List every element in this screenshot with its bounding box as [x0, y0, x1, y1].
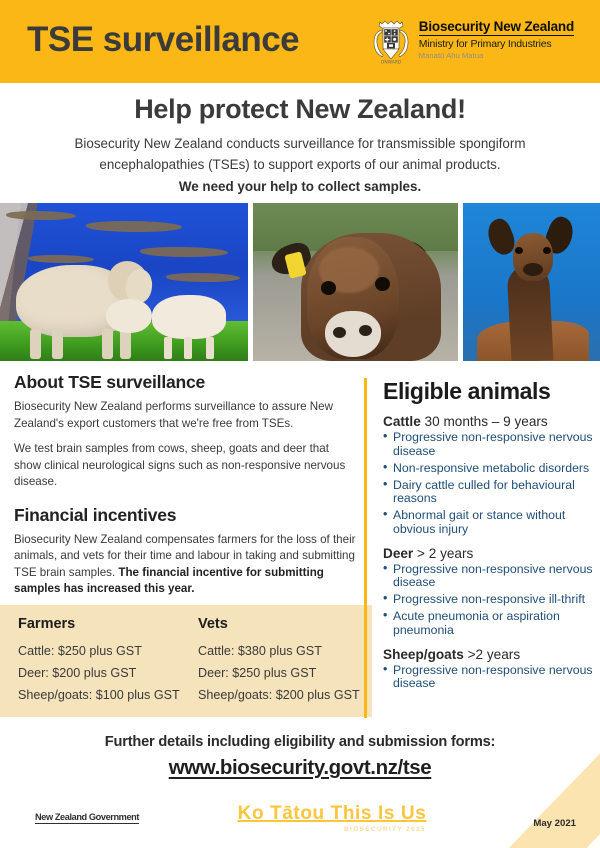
- about-paragraph-1: Biosecurity New Zealand performs surveil…: [14, 399, 359, 432]
- animal-name-deer: Deer: [383, 546, 413, 561]
- cow-eye: [321, 281, 336, 295]
- cow-photo: [253, 203, 458, 361]
- lamb-leg: [206, 337, 214, 359]
- photo-strip: [0, 203, 600, 361]
- footer-cta: Further details including eligibility an…: [0, 734, 600, 780]
- cattle-signs-list: Progressive non-responsive nervous disea…: [383, 431, 595, 537]
- biosecurity-nz-logo: ONWARD Biosecurity New Zealand Ministry …: [370, 18, 574, 66]
- ewe-leg: [30, 329, 41, 359]
- eligible-animals-heading: Eligible animals: [383, 378, 595, 405]
- logo-line-biosecurity: Biosecurity New Zealand: [419, 20, 574, 36]
- cow-nostril: [333, 327, 346, 338]
- animal-age-sheep-goats: >2 years: [464, 647, 520, 662]
- animal-group-sheep-goats-heading: Sheep/goats >2 years: [383, 647, 595, 662]
- farmers-heading: Farmers: [18, 616, 188, 632]
- hero-section: Help protect New Zealand! Biosecurity Ne…: [0, 83, 600, 194]
- list-item: Dairy cattle culled for behavioural reas…: [383, 479, 595, 506]
- about-paragraph-2: We test brain samples from cows, sheep, …: [14, 441, 359, 491]
- cow-nostril: [359, 325, 372, 336]
- page-title: TSE surveillance: [27, 20, 299, 60]
- animal-group-cattle-heading: Cattle 30 months – 9 years: [383, 414, 595, 429]
- rock: [28, 255, 94, 263]
- list-item: Progressive non-responsive ill-thrift: [383, 593, 595, 607]
- nz-coat-of-arms-icon: ONWARD: [370, 18, 412, 66]
- lamb-head: [106, 299, 152, 333]
- footer-url-link[interactable]: www.biosecurity.govt.nz/tse: [0, 756, 600, 780]
- about-heading: About TSE surveillance: [14, 372, 359, 393]
- ewe-leg: [52, 329, 63, 359]
- lamb-body: [152, 295, 226, 339]
- animal-name-sheep-goats: Sheep/goats: [383, 647, 464, 662]
- page-header: TSE surveillance: [0, 0, 600, 83]
- svg-text:ONWARD: ONWARD: [381, 60, 402, 66]
- lamb-leg: [164, 337, 172, 359]
- rock: [86, 221, 182, 232]
- animal-age-cattle: 30 months – 9 years: [421, 414, 548, 429]
- vets-rate-deer: Deer: $250 plus GST: [198, 662, 372, 684]
- list-item: Progressive non-responsive nervous disea…: [383, 563, 595, 590]
- financial-heading: Financial incentives: [14, 505, 359, 526]
- deer-eye: [543, 247, 551, 254]
- hero-paragraph: Biosecurity New Zealand conducts surveil…: [0, 133, 600, 175]
- incentives-column-farmers: Farmers Cattle: $250 plus GST Deer: $200…: [0, 605, 188, 717]
- financial-paragraph: Biosecurity New Zealand compensates farm…: [14, 532, 359, 598]
- logo-line-ministry: Ministry for Primary Industries: [419, 38, 574, 51]
- deer-eye: [515, 247, 523, 254]
- rock: [166, 273, 240, 282]
- list-item: Acute pneumonia or aspiration pneumonia: [383, 610, 595, 637]
- nz-government-logo: New Zealand Government: [35, 812, 139, 824]
- campaign-logo-sub: BIOSECURITY 2025: [232, 826, 432, 833]
- incentives-box: Farmers Cattle: $250 plus GST Deer: $200…: [0, 605, 372, 717]
- poster-page: TSE surveillance: [0, 0, 600, 848]
- logo-line-maori: Manatū Ahu Matua: [419, 51, 574, 60]
- farmers-rate-cattle: Cattle: $250 plus GST: [18, 640, 188, 662]
- ewe-leg: [102, 329, 113, 359]
- sheep-and-lambs-photo: [0, 203, 248, 361]
- vets-rate-sheep-goats: Sheep/goats: $200 plus GST: [198, 684, 372, 706]
- farmers-rate-deer: Deer: $200 plus GST: [18, 662, 188, 684]
- campaign-logo-main: Ko Tātou This Is Us: [232, 804, 432, 824]
- hero-heading: Help protect New Zealand!: [0, 94, 600, 125]
- deer-signs-list: Progressive non-responsive nervous disea…: [383, 563, 595, 638]
- animal-age-deer: > 2 years: [413, 546, 473, 561]
- footer-cta-text: Further details including eligibility an…: [0, 734, 600, 750]
- ewe-leg: [120, 329, 131, 359]
- farmers-rate-sheep-goats: Sheep/goats: $100 plus GST: [18, 684, 188, 706]
- rock: [140, 247, 228, 257]
- list-item: Progressive non-responsive nervous disea…: [383, 664, 595, 691]
- animal-name-cattle: Cattle: [383, 414, 421, 429]
- vets-rate-cattle: Cattle: $380 plus GST: [198, 640, 372, 662]
- animal-group-deer-heading: Deer > 2 years: [383, 546, 595, 561]
- list-item: Abnormal gait or stance without obvious …: [383, 509, 595, 536]
- vets-heading: Vets: [198, 616, 372, 632]
- list-item: Non-responsive metabolic disorders: [383, 462, 595, 476]
- publication-date: May 2021: [533, 818, 576, 829]
- incentives-column-vets: Vets Cattle: $380 plus GST Deer: $250 pl…: [188, 605, 372, 717]
- left-column: About TSE surveillance Biosecurity New Z…: [14, 372, 359, 607]
- column-divider: [364, 378, 367, 718]
- list-item: Progressive non-responsive nervous disea…: [383, 431, 595, 458]
- cow-eye: [375, 277, 390, 291]
- right-column: Eligible animals Cattle 30 months – 9 ye…: [383, 378, 595, 694]
- rock: [6, 211, 76, 220]
- lamb-leg: [184, 337, 192, 359]
- ko-tatou-this-is-us-logo: Ko Tātou This Is Us BIOSECURITY 2025: [232, 804, 432, 833]
- sheep-goats-signs-list: Progressive non-responsive nervous disea…: [383, 664, 595, 691]
- hero-call-to-action: We need your help to collect samples.: [0, 179, 600, 194]
- deer-nose: [523, 263, 543, 276]
- deer-photo: [463, 203, 600, 361]
